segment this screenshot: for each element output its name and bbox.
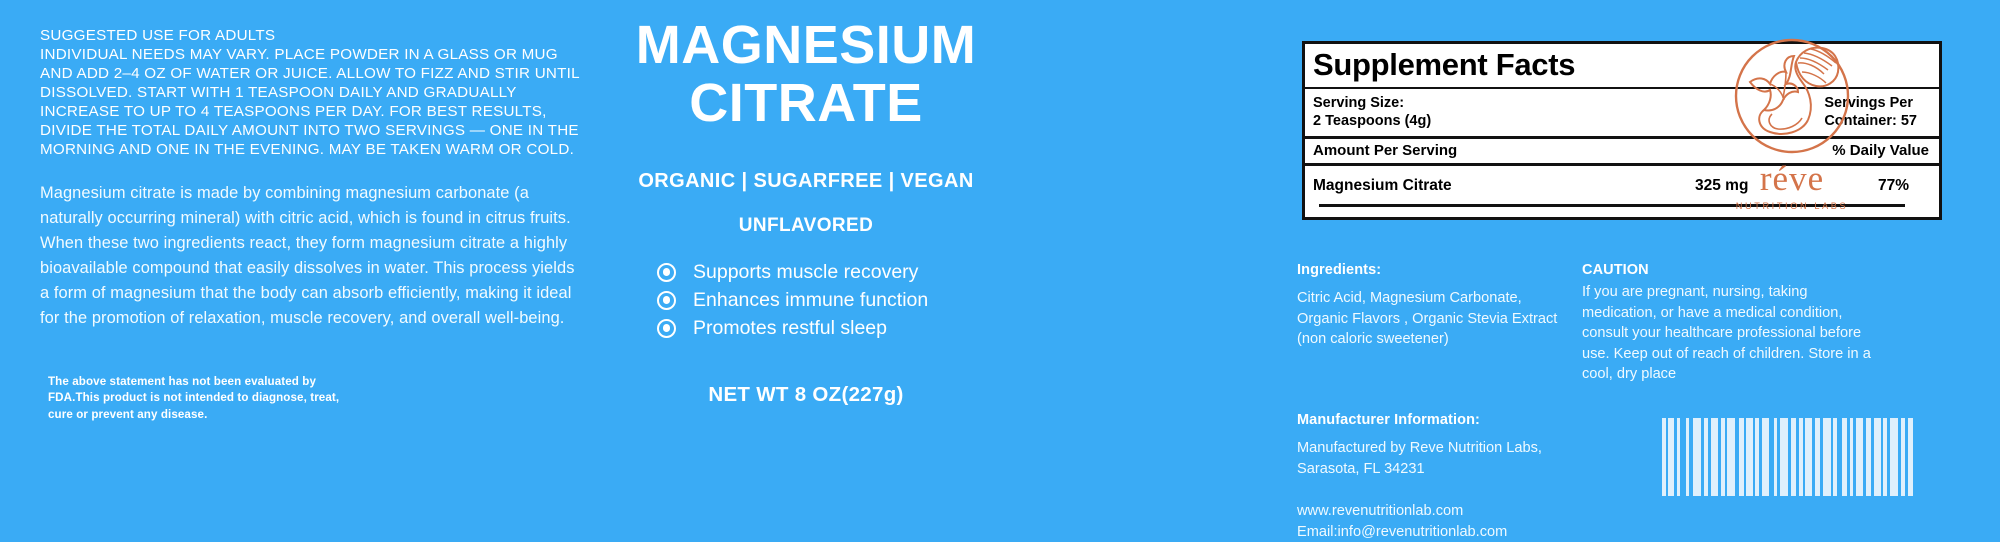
caution-line: If you are pregnant, nursing, taking [1582,282,1907,303]
barcode-bar [1762,418,1769,496]
benefit-item: Enhances immune function [657,287,928,313]
left-panel: SUGGESTED USE FOR ADULTS INDIVIDUAL NEED… [0,0,610,536]
manufacturer-body: Manufactured by Reve Nutrition Labs, Sar… [1297,438,1637,479]
ingredients-heading: Ingredients: [1297,262,1627,278]
caution-body: If you are pregnant, nursing, taking med… [1582,282,1907,385]
ingredients-line: (non caloric sweetener) [1297,329,1627,350]
suggested-use-body: INDIVIDUAL NEEDS MAY VARY. PLACE POWDER … [40,45,592,159]
manufacturer-email[interactable]: Email:info@revenutritionlab.com [1297,522,1637,542]
caution-line: medication, or have a medical condition, [1582,303,1907,324]
fda-disclaimer: The above statement has not been evaluat… [48,374,348,424]
nutrient-name: Magnesium Citrate [1313,177,1695,195]
benefit-label: Supports muscle recovery [693,260,918,284]
barcode-bar [1693,418,1701,496]
manufacturer-heading: Manufacturer Information: [1297,412,1637,428]
manufacturer-line: Manufactured by Reve Nutrition Labs, [1297,438,1637,459]
product-title: MAGNESIUM CITRATE [610,16,1002,132]
caution-line: cool, dry place [1582,364,1907,385]
suggested-use-block: SUGGESTED USE FOR ADULTS INDIVIDUAL NEED… [40,26,592,159]
product-label: SUGGESTED USE FOR ADULTS INDIVIDUAL NEED… [0,0,2000,536]
serving-size-label: Serving Size: [1313,94,1431,112]
radio-bullet-icon [657,263,676,282]
manufacturer-line: Sarasota, FL 34231 [1297,459,1637,480]
product-barcode [1662,418,1917,496]
right-panel: Supplement Facts Serving Size: 2 Teaspoo… [1002,0,2000,536]
barcode-bar [1711,418,1718,496]
benefit-label: Enhances immune function [693,288,928,312]
botanical-circle-logo-icon [1728,32,1856,160]
manufacturer-website[interactable]: www.revenutritionlab.com [1297,501,1637,522]
brand-logo: réve NUTRITION LABS [1702,32,1882,211]
ingredients-line: Citric Acid, Magnesium Carbonate, [1297,288,1627,309]
benefit-item: Supports muscle recovery [657,259,918,285]
manufacturer-block: Manufacturer Information: Manufactured b… [1297,412,1637,542]
caution-line: use. Keep out of reach of children. Stor… [1582,344,1907,365]
barcode-bar [1780,418,1788,496]
ingredients-body: Citric Acid, Magnesium Carbonate, Organi… [1297,288,1627,350]
benefits-list: Supports muscle recovery Enhances immune… [610,259,1002,341]
suggested-use-title: SUGGESTED USE FOR ADULTS [40,26,592,45]
barcode-bar [1890,418,1898,496]
product-flavor: UNFLAVORED [610,215,1002,237]
net-weight: NET WT 8 OZ(227g) [610,383,1002,407]
product-title-line2: CITRATE [610,74,1002,132]
center-panel: MAGNESIUM CITRATE ORGANIC | SUGARFREE | … [610,0,1002,536]
brand-name: réve [1702,162,1882,196]
barcode-bar [1823,418,1831,496]
benefit-item: Promotes restful sleep [657,315,887,341]
benefit-label: Promotes restful sleep [693,316,887,340]
caution-block: CAUTION If you are pregnant, nursing, ta… [1582,262,1907,385]
caution-line: consult your healthcare professional bef… [1582,323,1907,344]
serving-size-value: 2 Teaspoons (4g) [1313,112,1431,130]
caution-heading: CAUTION [1582,262,1907,278]
barcode-bar [1913,418,1917,496]
product-tagline: ORGANIC | SUGARFREE | VEGAN [610,170,1002,193]
barcode-bar [1727,418,1735,496]
amount-per-serving-header: Amount Per Serving [1313,142,1457,159]
barcode-bar [1856,418,1863,496]
product-title-line1: MAGNESIUM [610,16,1002,74]
radio-bullet-icon [657,291,676,310]
serving-size-col: Serving Size: 2 Teaspoons (4g) [1313,94,1431,130]
brand-subtitle: NUTRITION LABS [1702,201,1882,211]
ingredients-line: Organic Flavors , Organic Stevia Extract [1297,309,1627,330]
product-description: Magnesium citrate is made by combining m… [40,181,588,331]
ingredients-block: Ingredients: Citric Acid, Magnesium Carb… [1297,262,1627,350]
radio-bullet-icon [657,319,676,338]
